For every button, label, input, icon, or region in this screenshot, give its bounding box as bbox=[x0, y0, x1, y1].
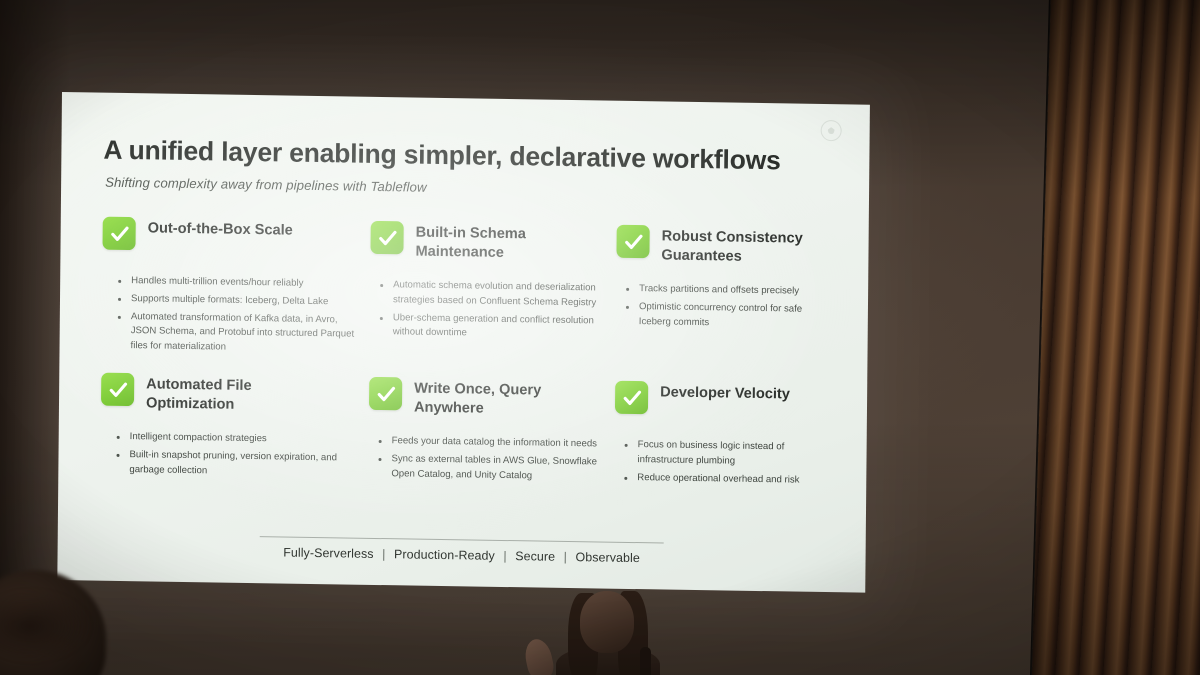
list-item: Automated transformation of Kafka data, … bbox=[115, 309, 363, 357]
feature-bullet-list: Handles multi-trillion events/hour relia… bbox=[115, 274, 364, 357]
list-item: Built-in snapshot pruning, version expir… bbox=[114, 448, 362, 481]
photo-scene: A unified layer enabling simpler, declar… bbox=[0, 0, 1200, 675]
feature-card: Robust Consistency Guarantees Tracks par… bbox=[615, 224, 834, 367]
feature-card: Built-in Schema Maintenance Automatic sc… bbox=[369, 220, 610, 364]
feature-bullet-list: Intelligent compaction strategies Built-… bbox=[114, 430, 362, 481]
list-item: Focus on business logic instead of infra… bbox=[622, 438, 832, 470]
list-item: Handles multi-trillion events/hour relia… bbox=[116, 274, 364, 292]
feature-card-header: Developer Velocity bbox=[615, 380, 833, 427]
projection-screen: A unified layer enabling simpler, declar… bbox=[57, 92, 870, 593]
list-item: Uber-schema generation and conflict reso… bbox=[378, 311, 610, 344]
feature-bullet-list: Tracks partitions and offsets precisely … bbox=[624, 282, 834, 332]
footer-separator: | bbox=[498, 549, 511, 563]
feature-grid: Out-of-the-Box Scale Handles multi-trill… bbox=[100, 216, 834, 491]
feature-card: Out-of-the-Box Scale Handles multi-trill… bbox=[101, 216, 364, 360]
footer-taglines: Fully-Serverless | Production-Ready | Se… bbox=[58, 542, 866, 569]
slide-title: A unified layer enabling simpler, declar… bbox=[103, 135, 835, 177]
feature-card-header: Out-of-the-Box Scale bbox=[102, 216, 364, 264]
feature-card-header: Robust Consistency Guarantees bbox=[616, 224, 834, 271]
feature-card: Developer Velocity Focus on business log… bbox=[614, 380, 833, 491]
presenter-microphone bbox=[640, 647, 651, 675]
presentation-slide: A unified layer enabling simpler, declar… bbox=[57, 92, 870, 593]
feature-card-title: Developer Velocity bbox=[660, 381, 790, 404]
presenter-silhouette bbox=[520, 571, 710, 675]
feature-card-title: Robust Consistency Guarantees bbox=[661, 225, 834, 267]
footer-item-serverless: Fully-Serverless bbox=[283, 546, 374, 561]
list-item: Sync as external tables in AWS Glue, Sno… bbox=[376, 452, 608, 485]
footer-separator: | bbox=[377, 547, 390, 561]
presenter-raised-hand bbox=[522, 637, 556, 675]
list-item: Automatic schema evolution and deseriali… bbox=[378, 278, 610, 311]
green-check-icon bbox=[615, 381, 648, 415]
feature-bullet-list: Feeds your data catalog the information … bbox=[376, 434, 608, 484]
list-item: Optimistic concurrency control for safe … bbox=[624, 300, 834, 332]
footer-separator: | bbox=[559, 550, 572, 564]
confluent-circle-logo-icon bbox=[821, 120, 842, 141]
list-item: Tracks partitions and offsets precisely bbox=[624, 282, 834, 300]
feature-card-header: Built-in Schema Maintenance bbox=[370, 220, 610, 268]
slide-content: A unified layer enabling simpler, declar… bbox=[57, 92, 870, 593]
feature-card-title: Out-of-the-Box Scale bbox=[148, 217, 293, 241]
slide-subtitle: Shifting complexity away from pipelines … bbox=[105, 175, 835, 201]
footer-item-production-ready: Production-Ready bbox=[394, 547, 495, 563]
list-item: Reduce operational overhead and risk bbox=[622, 470, 832, 488]
feature-card-title: Built-in Schema Maintenance bbox=[415, 221, 595, 263]
feature-card-header: Automated File Optimization bbox=[101, 372, 363, 420]
green-check-icon bbox=[370, 221, 403, 255]
footer-item-observable: Observable bbox=[575, 550, 640, 565]
feature-bullet-list: Automatic schema evolution and deseriali… bbox=[378, 278, 611, 343]
presenter-head bbox=[580, 591, 634, 653]
feature-card-header: Write Once, Query Anywhere bbox=[369, 376, 609, 424]
list-item: Intelligent compaction strategies bbox=[115, 430, 363, 448]
feature-card-title: Write Once, Query Anywhere bbox=[414, 377, 594, 419]
feature-bullet-list: Focus on business logic instead of infra… bbox=[622, 438, 832, 488]
wood-panel-shading bbox=[1030, 0, 1200, 675]
footer-divider bbox=[260, 536, 664, 543]
wood-slat-paneling bbox=[1030, 0, 1200, 675]
footer-item-secure: Secure bbox=[515, 549, 555, 564]
feature-card-title: Automated File Optimization bbox=[146, 373, 326, 415]
slide-footer: Fully-Serverless | Production-Ready | Se… bbox=[58, 533, 866, 569]
list-item: Feeds your data catalog the information … bbox=[377, 434, 609, 452]
feature-card: Automated File Optimization Intelligent … bbox=[100, 372, 363, 484]
green-check-icon bbox=[616, 225, 649, 259]
green-check-icon bbox=[369, 377, 402, 411]
feature-card: Write Once, Query Anywhere Feeds your da… bbox=[368, 376, 609, 487]
list-item: Supports multiple formats: Iceberg, Delt… bbox=[116, 292, 364, 310]
green-check-icon bbox=[102, 217, 135, 251]
green-check-icon bbox=[101, 373, 134, 407]
